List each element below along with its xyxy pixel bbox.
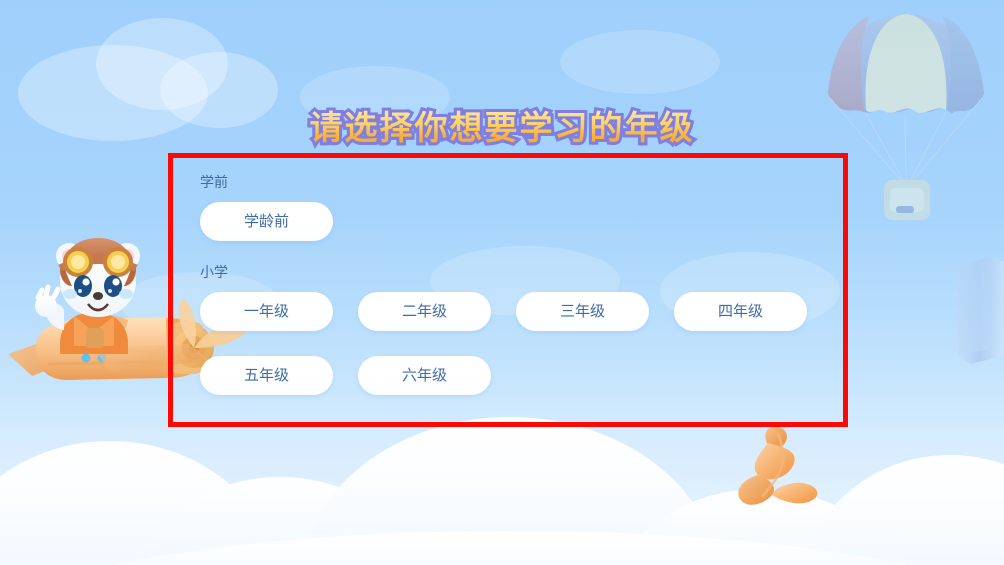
grade-option-grade2[interactable]: 二年级 bbox=[358, 292, 491, 331]
blue-block-icon bbox=[952, 252, 1004, 364]
primary-option-row: 一年级 二年级 三年级 四年级 五年级 六年级 bbox=[200, 292, 820, 395]
grade-selection-screen: 请选择你想要学习的年级 请选择你想要学习的年级 学前 学龄前 小学 一年级 二年… bbox=[0, 0, 1004, 565]
preschool-option-row: 学龄前 bbox=[200, 202, 820, 241]
page-title-stroke: 请选择你想要学习的年级 bbox=[310, 108, 695, 148]
grade-option-grade1[interactable]: 一年级 bbox=[200, 292, 333, 331]
section-label-primary: 小学 bbox=[200, 263, 848, 283]
grade-option-grade5[interactable]: 五年级 bbox=[200, 356, 333, 395]
grade-option-grade4[interactable]: 四年级 bbox=[674, 292, 807, 331]
grade-options-panel: 学前 学龄前 小学 一年级 二年级 三年级 四年级 五年级 六年级 bbox=[168, 153, 848, 427]
page-title-text: 请选择你想要学习的年级 bbox=[310, 108, 695, 147]
grade-option-grade3[interactable]: 三年级 bbox=[516, 292, 649, 331]
page-title: 请选择你想要学习的年级 请选择你想要学习的年级 bbox=[0, 108, 1004, 148]
ribbon-icon bbox=[728, 425, 838, 520]
section-label-preschool: 学前 bbox=[200, 173, 848, 193]
grade-option-grade6[interactable]: 六年级 bbox=[358, 356, 491, 395]
grade-option-preschool[interactable]: 学龄前 bbox=[200, 202, 333, 241]
